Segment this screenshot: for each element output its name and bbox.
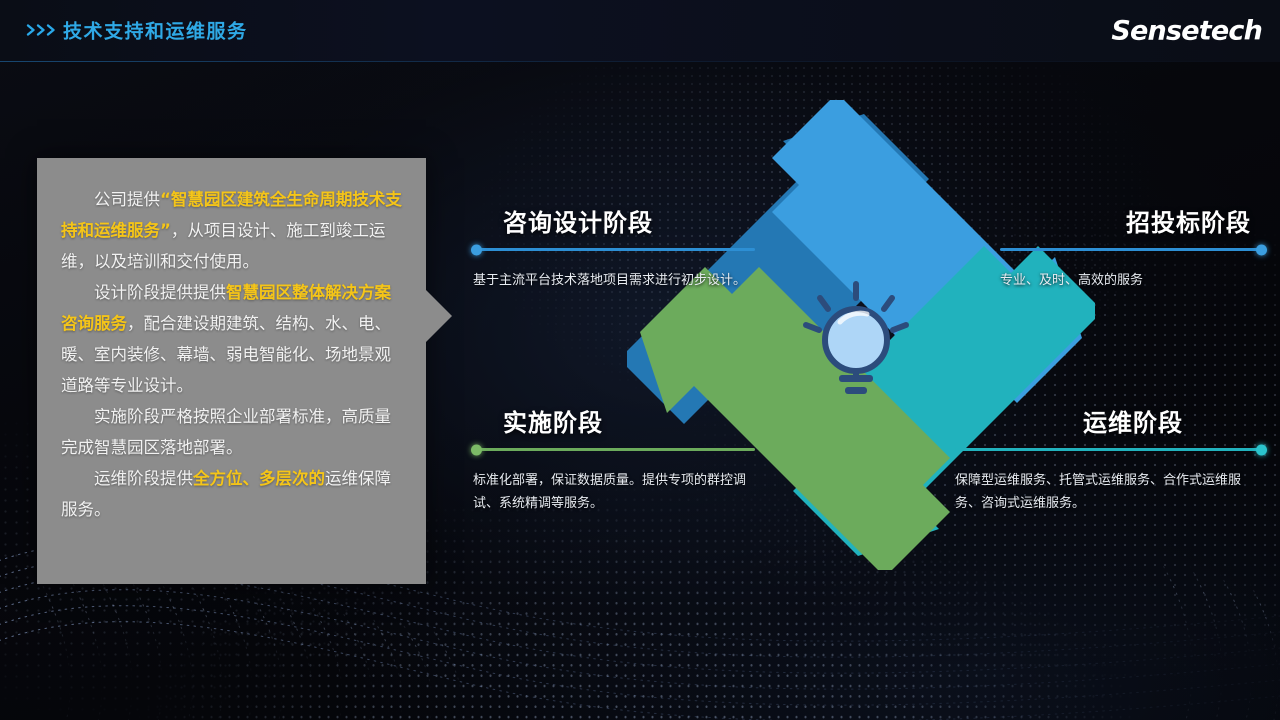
brand-logo: Sensetech bbox=[1111, 16, 1262, 47]
stage-dot-bid bbox=[1256, 244, 1267, 255]
lightbulb-icon bbox=[793, 278, 919, 404]
description-panel: 公司提供“智慧园区建筑全生命周期技术支持和运维服务”，从项目设计、施工到竣工运维… bbox=[37, 158, 426, 584]
stage-desc-impl: 标准化部署，保证数据质量。提供专项的群控调试、系统精调等服务。 bbox=[473, 469, 755, 515]
stage-block-consult[interactable]: 咨询设计阶段 基于主流平台技术落地项目需求进行初步设计。 bbox=[473, 203, 755, 292]
panel-paragraph-4: 运维阶段提供全方位、多层次的运维保障服务。 bbox=[61, 463, 404, 525]
stage-rule-ops bbox=[955, 448, 1265, 451]
panel-run-plain: 实施阶段严格按照企业部署标准，高质量完成智慧园区落地部署。 bbox=[61, 407, 391, 457]
panel-paragraph-2: 设计阶段提供提供智慧园区整体解决方案咨询服务，配合建设期建筑、结构、水、电、暖、… bbox=[61, 277, 404, 401]
stage-desc-consult: 基于主流平台技术落地项目需求进行初步设计。 bbox=[473, 269, 755, 292]
stage-block-ops[interactable]: 运维阶段 保障型运维服务、托管式运维服务、合作式运维服务、咨询式运维服务。 bbox=[955, 403, 1265, 515]
panel-run-plain: 设计阶段提供提供 bbox=[94, 283, 226, 302]
chevron-glyphs bbox=[26, 24, 60, 37]
stage-title-ops: 运维阶段 bbox=[955, 403, 1265, 438]
slide-root: 技术支持和运维服务 Sensetech 公司提供“智慧园区建筑全生命周期技术支持… bbox=[0, 0, 1280, 720]
panel-paragraph-3: 实施阶段严格按照企业部署标准，高质量完成智慧园区落地部署。 bbox=[61, 401, 404, 463]
stage-dot-ops bbox=[1256, 444, 1267, 455]
stage-desc-ops: 保障型运维服务、托管式运维服务、合作式运维服务、咨询式运维服务。 bbox=[955, 469, 1265, 515]
panel-run-plain: 运维阶段提供 bbox=[94, 469, 193, 488]
stage-dot-consult bbox=[471, 244, 482, 255]
stage-rule-consult bbox=[473, 248, 755, 251]
stage-dot-impl bbox=[471, 444, 482, 455]
stage-block-bid[interactable]: 招投标阶段 专业、及时、高效的服务 bbox=[1000, 203, 1265, 292]
page-title: 技术支持和运维服务 bbox=[63, 17, 248, 44]
stage-rule-impl bbox=[473, 448, 755, 451]
panel-pointer-arrow bbox=[426, 290, 452, 342]
panel-paragraph-1: 公司提供“智慧园区建筑全生命周期技术支持和运维服务”，从项目设计、施工到竣工运维… bbox=[61, 184, 404, 277]
stage-block-impl[interactable]: 实施阶段 标准化部署，保证数据质量。提供专项的群控调试、系统精调等服务。 bbox=[473, 403, 755, 515]
header-underline bbox=[0, 61, 1280, 62]
stage-rule-bid bbox=[1000, 248, 1265, 251]
stage-title-consult: 咨询设计阶段 bbox=[473, 203, 755, 238]
panel-run-plain: 公司提供 bbox=[94, 190, 160, 209]
stage-desc-bid: 专业、及时、高效的服务 bbox=[1000, 269, 1265, 292]
stage-title-bid: 招投标阶段 bbox=[1000, 203, 1265, 238]
stage-title-impl: 实施阶段 bbox=[473, 403, 755, 438]
panel-run-highlight: 全方位、多层次的 bbox=[193, 469, 325, 488]
triple-chevron-right-icon bbox=[26, 24, 60, 37]
